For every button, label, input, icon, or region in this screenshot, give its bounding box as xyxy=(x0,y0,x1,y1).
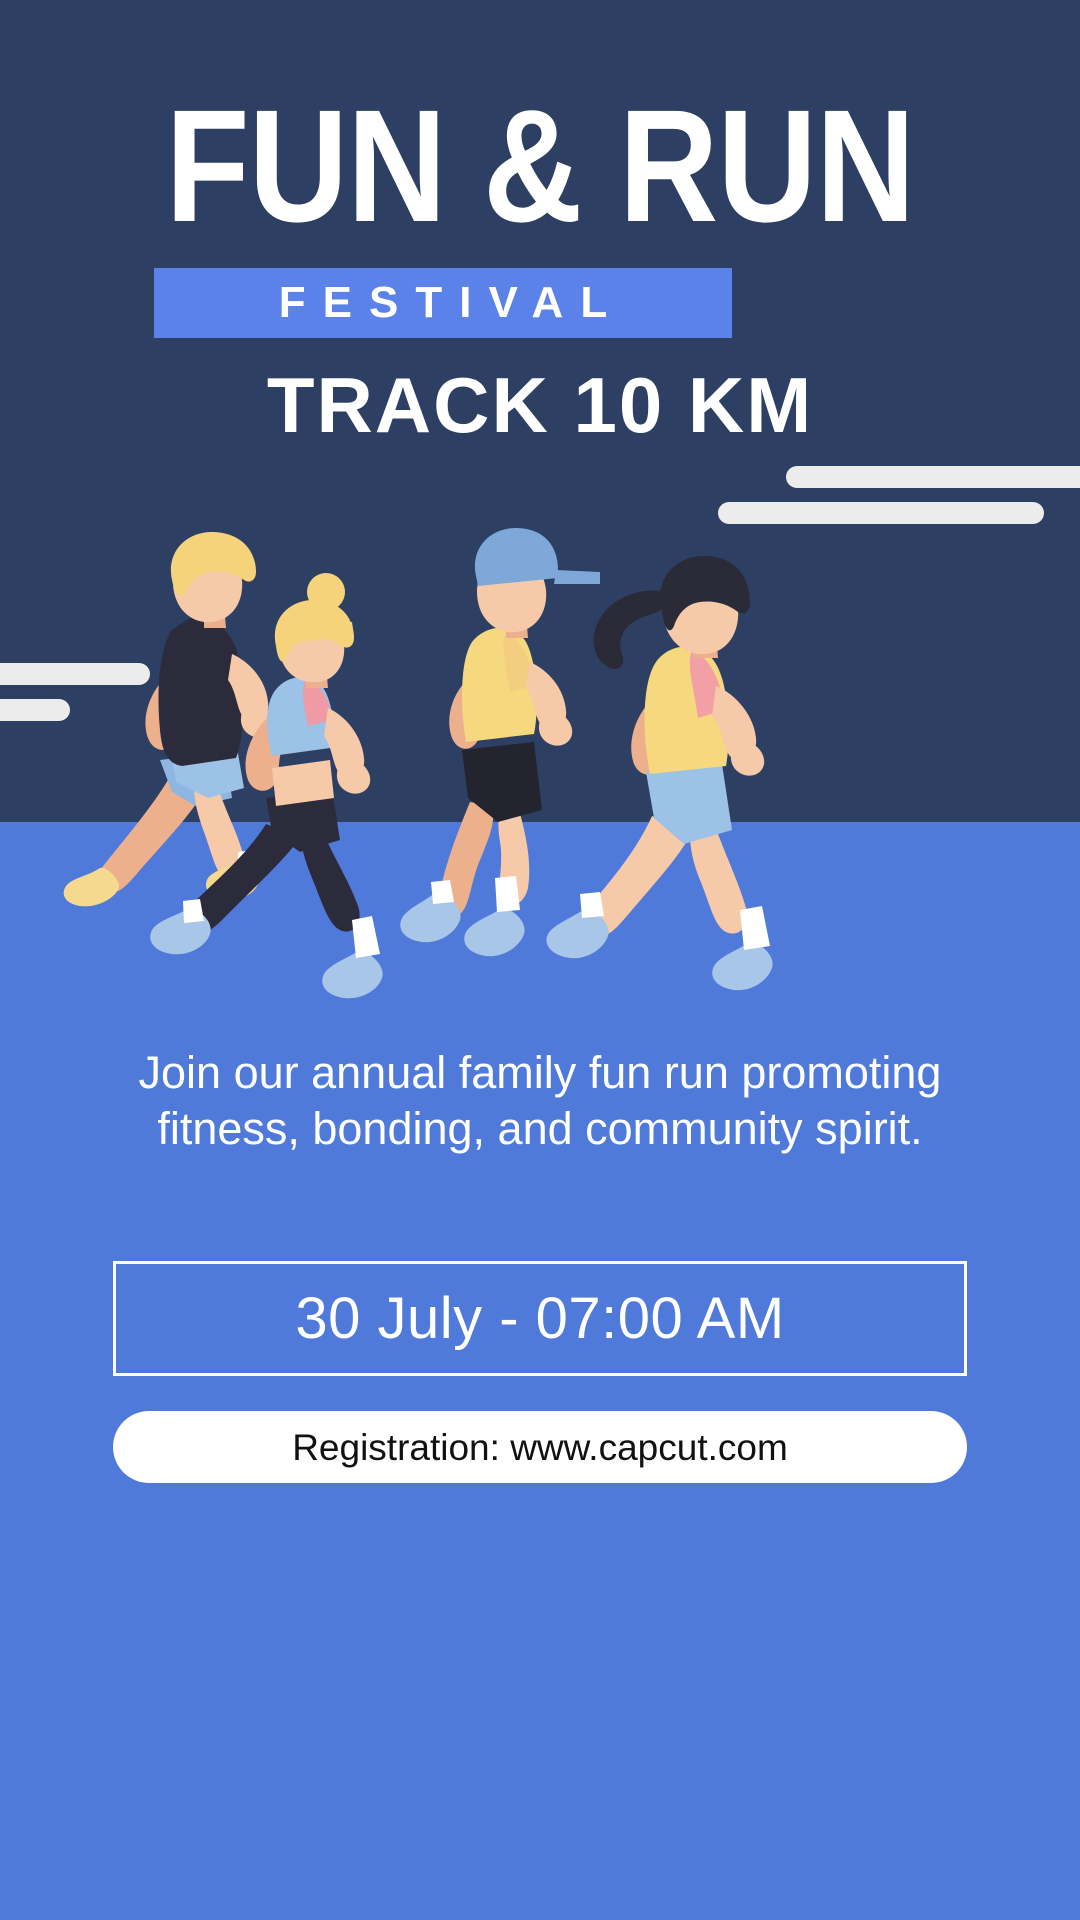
registration-label: Registration: www.capcut.com xyxy=(292,1429,788,1466)
date-time-box: 30 July - 07:00 AM xyxy=(113,1261,967,1376)
date-time-label: 30 July - 07:00 AM xyxy=(295,1290,784,1348)
subtitle-track-distance: TRACK 10 KM xyxy=(0,360,1080,450)
poster-canvas: FUN & RUN FESTIVAL TRACK 10 KM xyxy=(0,0,1080,1920)
description-text: Join our annual family fun run promoting… xyxy=(90,1045,990,1157)
festival-banner-label: FESTIVAL xyxy=(262,281,624,325)
runner-man-cap-yellow-tank xyxy=(400,528,600,956)
registration-button[interactable]: Registration: www.capcut.com xyxy=(113,1411,967,1483)
runner-blonde-man-dark-shirt xyxy=(64,532,275,906)
runner-dark-hair-woman-yellow-shirt xyxy=(546,556,772,990)
page-title: FUN & RUN xyxy=(76,86,1005,246)
four-runners-illustration xyxy=(0,480,1080,1040)
festival-banner: FESTIVAL xyxy=(154,268,732,338)
